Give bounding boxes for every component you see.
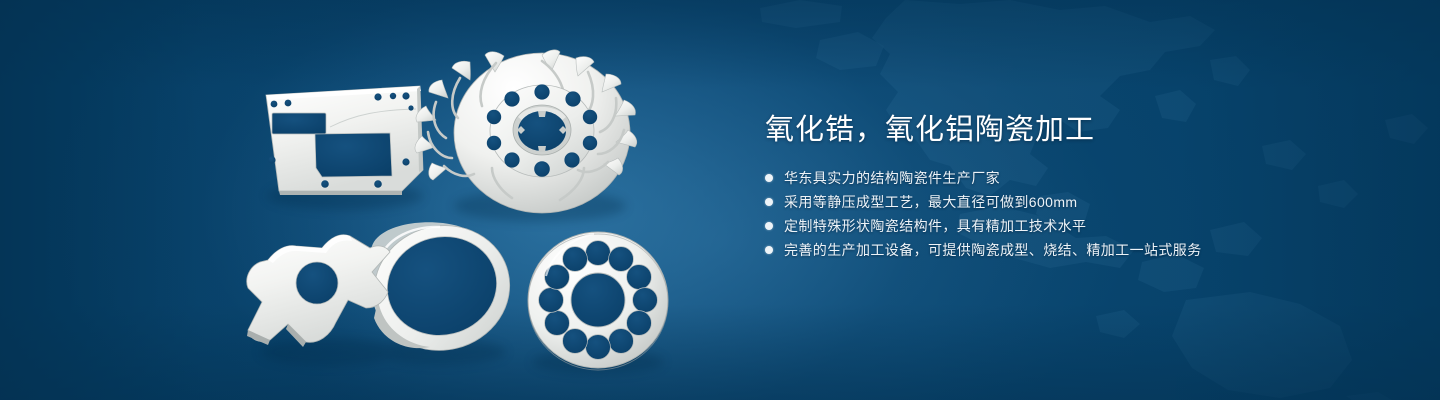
page-title: 氧化锆，氧化铝陶瓷加工 <box>765 110 1385 150</box>
ceramic-perforated-disc <box>528 232 668 370</box>
product-photo-group <box>0 0 720 400</box>
ceramic-ring <box>361 211 523 364</box>
ceramic-cross-plate <box>247 235 390 347</box>
plate-rect-cutout-small <box>272 113 326 134</box>
list-item: 华东具实力的结构陶瓷件生产厂家 <box>765 166 1385 190</box>
feature-list: 华东具实力的结构陶瓷件生产厂家 采用等静压成型工艺，最大直径可做到600mm 定… <box>765 166 1385 262</box>
list-item: 定制特殊形状陶瓷结构件，具有精加工技术水平 <box>765 214 1385 238</box>
list-item-label: 完善的生产加工设备，可提供陶瓷成型、烧结、精加工一站式服务 <box>784 238 1202 262</box>
bullet-dot-icon <box>765 198 773 206</box>
list-item: 完善的生产加工设备，可提供陶瓷成型、烧结、精加工一站式服务 <box>765 238 1385 262</box>
cross-plate-bore <box>296 262 338 304</box>
list-item-label: 华东具实力的结构陶瓷件生产厂家 <box>784 166 1000 190</box>
hero-banner: 氧化锆，氧化铝陶瓷加工 华东具实力的结构陶瓷件生产厂家 采用等静压成型工艺，最大… <box>0 0 1440 400</box>
list-item: 采用等静压成型工艺，最大直径可做到600mm <box>765 190 1385 214</box>
plate-rect-cutout-large <box>315 133 392 177</box>
bullet-dot-icon <box>765 246 773 254</box>
ceramic-impeller-rotor <box>415 50 637 213</box>
banner-copy: 氧化锆，氧化铝陶瓷加工 华东具实力的结构陶瓷件生产厂家 采用等静压成型工艺，最大… <box>765 110 1385 262</box>
ceramic-machined-plate <box>266 86 423 195</box>
disc-center-bore <box>571 273 625 327</box>
list-item-label: 采用等静压成型工艺，最大直径可做到600mm <box>784 190 1077 214</box>
bullet-dot-icon <box>765 222 773 230</box>
list-item-label: 定制特殊形状陶瓷结构件，具有精加工技术水平 <box>784 214 1086 238</box>
bullet-dot-icon <box>765 174 773 182</box>
